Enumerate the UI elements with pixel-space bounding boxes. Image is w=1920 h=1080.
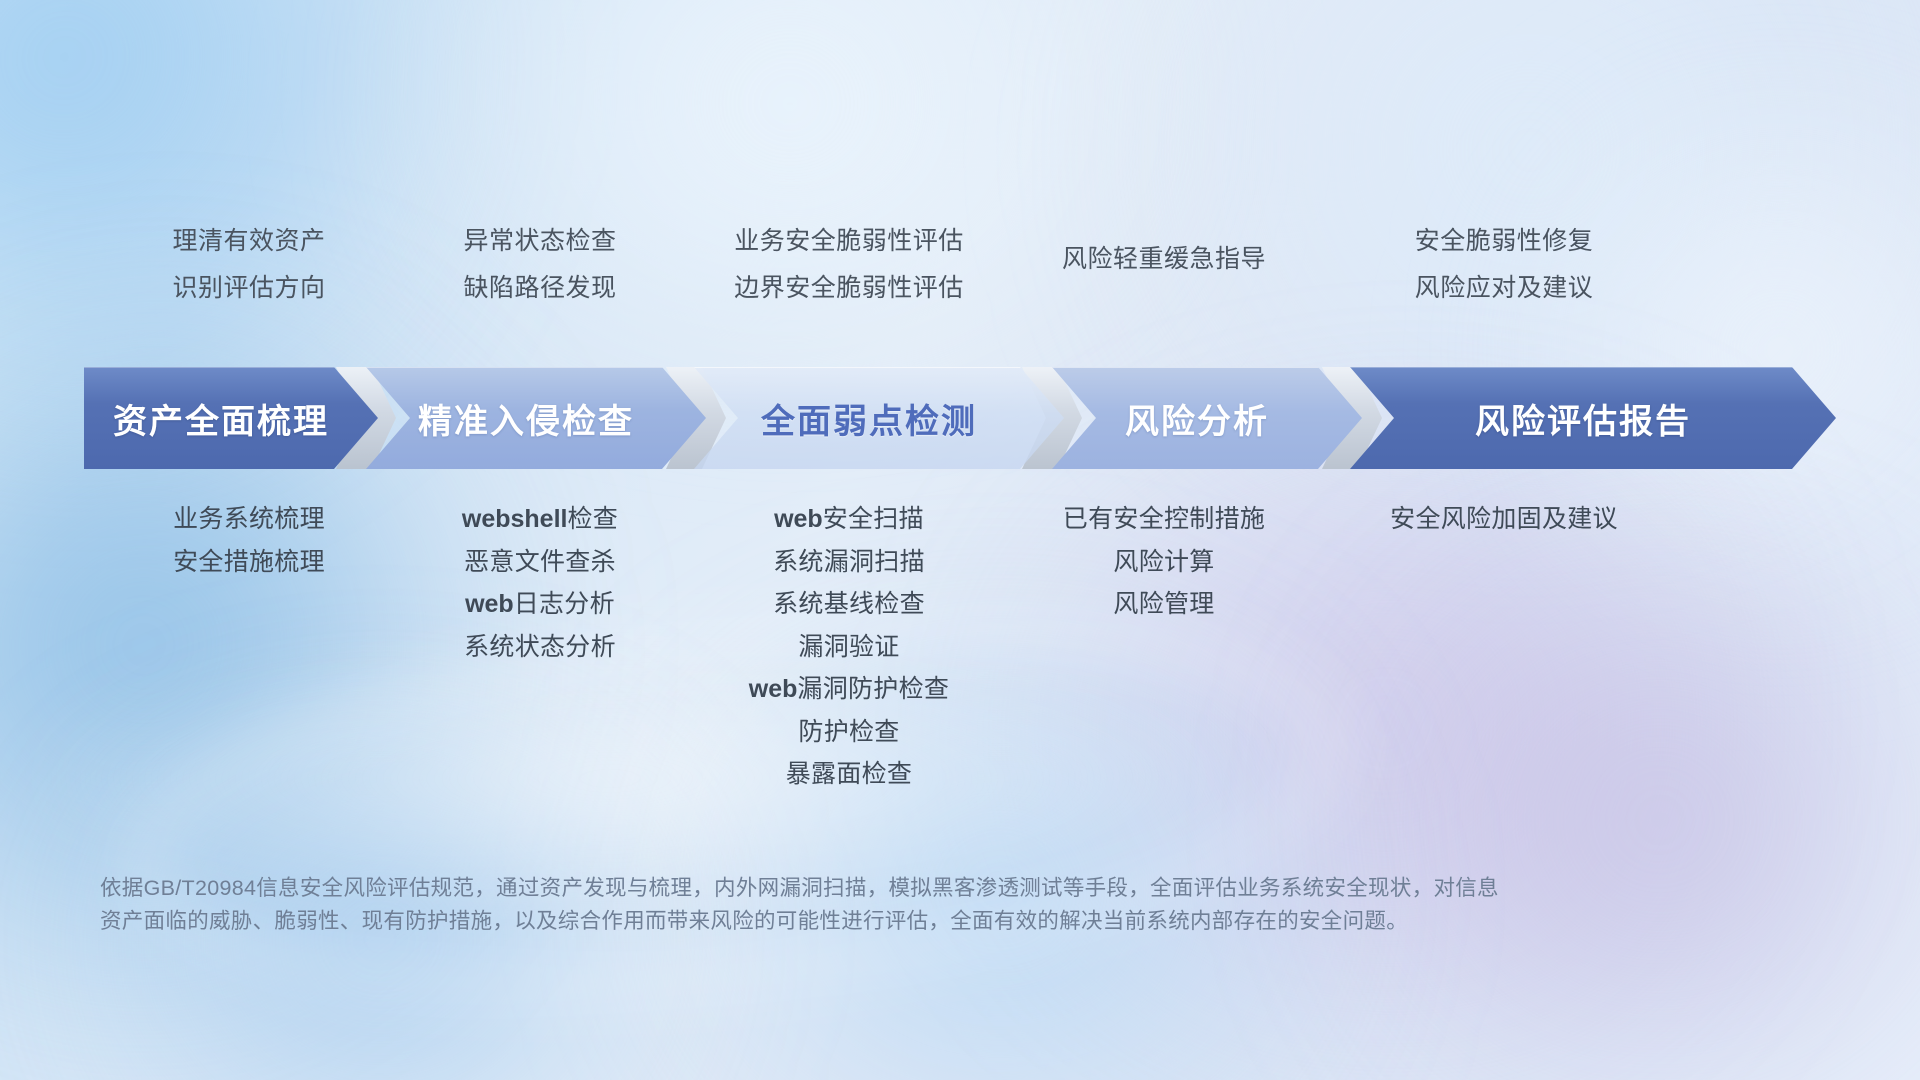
bottom-item: 安全措施梳理 bbox=[173, 549, 325, 577]
bottom-item: 暴露面检查 bbox=[786, 761, 913, 789]
top-item: 风险应对及建议 bbox=[1415, 275, 1594, 303]
bottom-item: 防护检查 bbox=[798, 719, 899, 747]
chevron-label: 全面弱点检测 bbox=[694, 394, 1064, 443]
latin-prefix: web bbox=[465, 590, 514, 618]
top-item: 识别评估方向 bbox=[172, 275, 325, 303]
bottom-item: web漏洞防护检查 bbox=[749, 676, 949, 704]
top-item: 异常状态检查 bbox=[463, 228, 616, 256]
bottom-item: 系统状态分析 bbox=[464, 634, 616, 662]
bottom-item: 业务系统梳理 bbox=[173, 506, 325, 534]
top-item: 业务安全脆弱性评估 bbox=[734, 228, 964, 256]
chevron-stage-risk-report[interactable]: 风险评估报告 bbox=[1350, 367, 1836, 469]
bottom-item: 系统漏洞扫描 bbox=[773, 549, 925, 577]
bottom-item: web日志分析 bbox=[465, 591, 615, 619]
bottom-item: 已有安全控制措施 bbox=[1063, 506, 1265, 534]
top-item: 边界安全脆弱性评估 bbox=[734, 275, 964, 303]
bottom-item-list: 业务系统梳理 安全措施梳理 bbox=[84, 506, 414, 576]
top-item: 缺陷路径发现 bbox=[463, 275, 616, 303]
footer-line-1: 依据GB/T20984信息安全风险评估规范，通过资产发现与梳理，内外网漏洞扫描，… bbox=[100, 872, 1630, 905]
top-item-list: 理清有效资产 识别评估方向 bbox=[84, 228, 414, 302]
process-chevron-band: 资产全面梳理 精准入侵检查 全面弱点检测 风险分析 风险评估报告 bbox=[84, 367, 1836, 469]
bottom-item-list: webshell检查 恶意文件查杀 web日志分析 系统状态分析 bbox=[380, 506, 700, 661]
chevron-stage-weakness-detection[interactable]: 全面弱点检测 bbox=[694, 367, 1064, 469]
top-item-list: 业务安全脆弱性评估 边界安全脆弱性评估 bbox=[674, 228, 1024, 302]
chevron-label: 资产全面梳理 bbox=[84, 394, 378, 443]
process-diagram: 理清有效资产 识别评估方向 业务系统梳理 安全措施梳理 异常状态检查 缺陷路径发… bbox=[0, 0, 1920, 1080]
bottom-item: 安全风险加固及建议 bbox=[1390, 506, 1618, 534]
top-item-list: 安全脆弱性修复 风险应对及建议 bbox=[1294, 228, 1714, 302]
chevron-stage-risk-analysis[interactable]: 风险分析 bbox=[1052, 367, 1362, 469]
top-item: 风险轻重缓急指导 bbox=[1062, 246, 1266, 274]
top-item: 安全脆弱性修复 bbox=[1415, 228, 1594, 256]
bottom-item: 恶意文件查杀 bbox=[464, 549, 616, 577]
top-item-list: 异常状态检查 缺陷路径发现 bbox=[380, 228, 700, 302]
bottom-item: 风险管理 bbox=[1113, 591, 1214, 619]
bottom-item-list: 已有安全控制措施 风险计算 风险管理 bbox=[1004, 506, 1324, 619]
chevron-stage-asset-review[interactable]: 资产全面梳理 bbox=[84, 367, 378, 469]
bottom-item: 漏洞验证 bbox=[798, 634, 899, 662]
latin-prefix: web bbox=[774, 505, 823, 533]
chevron-stage-intrusion-check[interactable]: 精准入侵检查 bbox=[366, 367, 706, 469]
bottom-item: web安全扫描 bbox=[774, 506, 924, 534]
latin-prefix: web bbox=[749, 675, 798, 703]
chevron-label: 精准入侵检查 bbox=[366, 394, 706, 443]
bottom-item-list: web安全扫描 系统漏洞扫描 系统基线检查 漏洞验证 web漏洞防护检查 防护检… bbox=[674, 506, 1024, 789]
bottom-item: webshell检查 bbox=[462, 506, 618, 534]
top-item: 理清有效资产 bbox=[172, 228, 325, 256]
latin-prefix: webshell bbox=[462, 505, 568, 533]
footer-note: 依据GB/T20984信息安全风险评估规范，通过资产发现与梳理，内外网漏洞扫描，… bbox=[100, 872, 1630, 939]
bottom-item: 风险计算 bbox=[1113, 549, 1214, 577]
footer-line-2: 资产面临的威胁、脆弱性、现有防护措施，以及综合作用而带来风险的可能性进行评估，全… bbox=[100, 905, 1630, 938]
bottom-item: 系统基线检查 bbox=[773, 591, 925, 619]
bottom-item-list: 安全风险加固及建议 bbox=[1294, 506, 1714, 534]
chevron-label: 风险评估报告 bbox=[1350, 394, 1836, 443]
top-item-list: 风险轻重缓急指导 bbox=[1004, 246, 1324, 274]
chevron-label: 风险分析 bbox=[1052, 394, 1362, 443]
